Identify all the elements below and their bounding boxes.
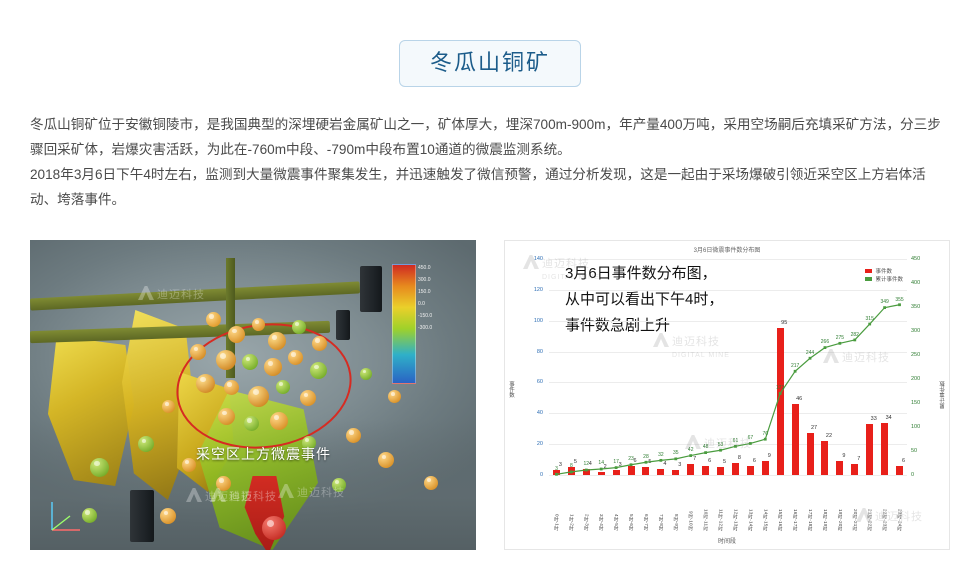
event-sphere — [262, 516, 286, 540]
event-sphere — [264, 358, 282, 376]
color-scale-ticks: 450.0 300.0 150.0 0.0 -150.0 -300.0 — [418, 262, 462, 390]
line-value-label: 61 — [733, 438, 739, 444]
line-marker — [645, 461, 648, 464]
x-axis-label: 9时-10时 — [688, 511, 694, 531]
event-sphere — [310, 362, 327, 379]
scale-tick-2: 150.0 — [418, 286, 462, 298]
event-sphere — [276, 380, 290, 394]
x-axis-label: 18时-19时 — [822, 509, 828, 531]
y-tick-right: 0 — [911, 472, 914, 478]
x-axis-title: 时间段 — [505, 536, 949, 545]
event-sphere — [216, 476, 231, 491]
y-tick-right: 100 — [911, 424, 920, 430]
x-axis-label: 11时-12时 — [718, 509, 724, 531]
event-sphere — [378, 452, 394, 468]
line-marker — [809, 357, 812, 360]
y-tick-left: 80 — [537, 349, 543, 355]
y-tick-right: 200 — [911, 376, 920, 382]
line-marker — [853, 339, 856, 342]
x-axis-label: 10时-11时 — [703, 509, 709, 531]
y-axis-left-title: 事件数 — [507, 381, 515, 398]
x-axis-label: 15时-16时 — [777, 509, 783, 531]
y-tick-right: 450 — [911, 256, 920, 262]
line-marker — [674, 457, 677, 460]
y-tick-left: 60 — [537, 379, 543, 385]
x-axis-label: 4时-5时 — [613, 514, 619, 531]
figure-3d-microseismic-view: 450.0 300.0 150.0 0.0 -150.0 -300.0 采空区上… — [30, 240, 476, 550]
figures-row: 450.0 300.0 150.0 0.0 -150.0 -300.0 采空区上… — [30, 240, 950, 550]
line-marker — [838, 342, 841, 345]
y-tick-left: 40 — [537, 410, 543, 416]
x-axis-label: 1时-2时 — [568, 514, 574, 531]
body-text: 冬瓜山铜矿位于安徽铜陵市，是我国典型的深埋硬岩金属矿山之一，矿体厚大，埋深700… — [30, 112, 950, 212]
line-value-label: 282 — [851, 332, 859, 338]
line-value-label: 28 — [643, 454, 649, 460]
x-axis-label: 21时-22时 — [867, 509, 873, 531]
event-sphere — [248, 386, 269, 407]
pillar-2 — [360, 266, 382, 312]
line-marker — [585, 469, 588, 472]
event-sphere — [206, 312, 221, 327]
event-sphere — [292, 320, 306, 334]
event-sphere — [224, 380, 239, 395]
event-sphere — [388, 390, 401, 403]
y-axis-left: 020406080100120140 — [507, 259, 547, 475]
figure-event-count-chart: 3月6日微震事件数分布图 3月6日事件数分布图， 从中可以看出下午4时， 事件数… — [504, 240, 950, 550]
scale-tick-1: 300.0 — [418, 274, 462, 286]
event-sphere — [162, 400, 175, 413]
line-value-label: 349 — [880, 299, 888, 305]
legend-label: 累计事件数 — [875, 275, 903, 283]
line-marker — [719, 449, 722, 452]
legend-label: 事件数 — [875, 267, 892, 275]
event-sphere — [312, 336, 327, 351]
x-axis-label: 19时-20时 — [837, 509, 843, 531]
line-value-label: 23 — [628, 456, 634, 462]
x-axis-label: 2时-3时 — [583, 514, 589, 531]
line-marker — [868, 323, 871, 326]
page-title-container: 冬瓜山铜矿 — [0, 40, 980, 87]
pillar-1 — [130, 490, 154, 542]
x-axis-label: 5时-6时 — [628, 514, 634, 531]
x-axis-labels: 0时-1时1时-2时2时-3时3时-4时4时-5时5时-6时6时-7时7时-8时… — [549, 475, 907, 531]
line-marker — [659, 459, 662, 462]
line-marker — [689, 454, 692, 457]
event-sphere — [216, 350, 236, 370]
line-marker — [749, 442, 752, 445]
chart-legend: 事件数累计事件数 — [865, 267, 903, 283]
event-sphere — [346, 428, 361, 443]
line-marker — [704, 451, 707, 454]
y-tick-left: 100 — [534, 318, 543, 324]
line-value-label: 8 — [570, 463, 573, 469]
line-value-label: 48 — [703, 444, 709, 450]
y-tick-right: 150 — [911, 400, 920, 406]
cumulative-line — [556, 305, 899, 475]
y-tick-right: 300 — [911, 328, 920, 334]
event-sphere — [332, 478, 346, 492]
x-axis-label: 12时-13时 — [732, 509, 738, 531]
event-sphere — [244, 416, 259, 431]
x-axis-label: 7时-8时 — [658, 514, 664, 531]
line-value-label: 275 — [836, 335, 844, 341]
x-axis-label: 13时-14时 — [747, 509, 753, 531]
line-value-label: 42 — [688, 447, 694, 453]
xyz-axis-icon — [46, 496, 92, 536]
drift-beam-upper — [30, 281, 360, 310]
line-marker — [794, 370, 797, 373]
y-tick-left: 0 — [540, 472, 543, 478]
line-value-label: 35 — [673, 450, 679, 456]
event-sphere — [268, 332, 286, 350]
x-axis-label: 3时-4时 — [598, 514, 604, 531]
line-value-label: 3 — [555, 466, 558, 472]
legend-item: 累计事件数 — [865, 275, 903, 283]
y-tick-left: 140 — [534, 256, 543, 262]
event-sphere — [270, 412, 288, 430]
line-value-label: 244 — [806, 350, 814, 356]
chart-title: 3月6日微震事件数分布图 — [505, 245, 949, 254]
line-value-label: 266 — [821, 339, 829, 345]
line-value-label: 76 — [763, 431, 769, 437]
line-value-label: 217 — [791, 363, 799, 369]
event-sphere — [218, 408, 235, 425]
line-marker — [898, 303, 901, 306]
x-axis-label: 6时-7时 — [643, 514, 649, 531]
x-axis-label: 22时-23时 — [882, 509, 888, 531]
line-marker — [615, 466, 618, 469]
line-marker — [600, 468, 603, 471]
event-sphere — [90, 458, 109, 477]
line-value-label: 171 — [776, 385, 784, 391]
y-tick-right: 400 — [911, 280, 920, 286]
pillar-3 — [336, 310, 350, 340]
y-tick-left: 120 — [534, 287, 543, 293]
line-marker — [764, 438, 767, 441]
line-marker — [824, 346, 827, 349]
legend-swatch — [865, 277, 872, 281]
event-sphere — [242, 354, 258, 370]
event-sphere — [160, 508, 176, 524]
legend-item: 事件数 — [865, 267, 903, 275]
x-axis-label: 17时-18时 — [807, 509, 813, 531]
y-axis-right-title: 累计事件数 — [939, 381, 947, 409]
y-tick-right: 50 — [911, 448, 917, 454]
event-sphere — [190, 344, 206, 360]
scale-tick-3: 0.0 — [418, 298, 462, 310]
line-value-label: 315 — [866, 316, 874, 322]
line-value-label: 12 — [584, 461, 590, 467]
figure-caption-left: 采空区上方微震事件 — [196, 444, 331, 464]
y-axis-right: 050100150200250300350400450 — [907, 259, 947, 475]
event-sphere — [182, 458, 196, 472]
paragraph-2: 2018年3月6日下午4时左右，监测到大量微震事件聚集发生，并迅速触发了微信预警… — [30, 162, 950, 212]
scale-tick-5: -300.0 — [418, 322, 462, 334]
y-tick-right: 250 — [911, 352, 920, 358]
event-sphere — [288, 350, 303, 365]
event-sphere — [196, 374, 215, 393]
line-marker — [779, 392, 782, 395]
line-marker — [630, 463, 633, 466]
y-tick-right: 350 — [911, 304, 920, 310]
line-marker — [734, 445, 737, 448]
event-sphere — [424, 476, 438, 490]
line-marker — [570, 471, 573, 474]
event-sphere — [252, 318, 265, 331]
page-title: 冬瓜山铜矿 — [399, 40, 581, 87]
scale-tick-4: -150.0 — [418, 310, 462, 322]
line-value-label: 32 — [658, 452, 664, 458]
paragraph-1: 冬瓜山铜矿位于安徽铜陵市，是我国典型的深埋硬岩金属矿山之一，矿体厚大，埋深700… — [30, 112, 950, 162]
x-axis-label: 8时-9时 — [673, 514, 679, 531]
event-sphere — [138, 436, 154, 452]
x-axis-label: 20时-21时 — [852, 509, 858, 531]
event-sphere — [300, 390, 316, 406]
cumulative-line-series — [549, 259, 907, 476]
x-axis-label: 0时-1时 — [553, 514, 559, 531]
x-axis-label: 23时-24时 — [897, 509, 903, 531]
y-tick-left: 20 — [537, 441, 543, 447]
plot-area: 354236543765869954627229733346 381214172… — [549, 259, 907, 475]
line-value-label: 14 — [598, 460, 604, 466]
line-value-label: 53 — [718, 442, 724, 448]
event-sphere — [360, 368, 372, 380]
event-sphere — [228, 326, 245, 343]
scale-tick-0: 450.0 — [418, 262, 462, 274]
line-value-label: 67 — [748, 435, 754, 441]
x-axis-label: 14时-15时 — [762, 509, 768, 531]
x-axis-label: 16时-17时 — [792, 509, 798, 531]
page-root: 冬瓜山铜矿 冬瓜山铜矿位于安徽铜陵市，是我国典型的深埋硬岩金属矿山之一，矿体厚大… — [0, 0, 980, 572]
line-value-label: 17 — [613, 459, 619, 465]
line-marker — [883, 306, 886, 309]
color-scale-bar — [392, 264, 416, 384]
legend-swatch — [865, 269, 872, 273]
line-value-label: 355 — [895, 297, 903, 303]
